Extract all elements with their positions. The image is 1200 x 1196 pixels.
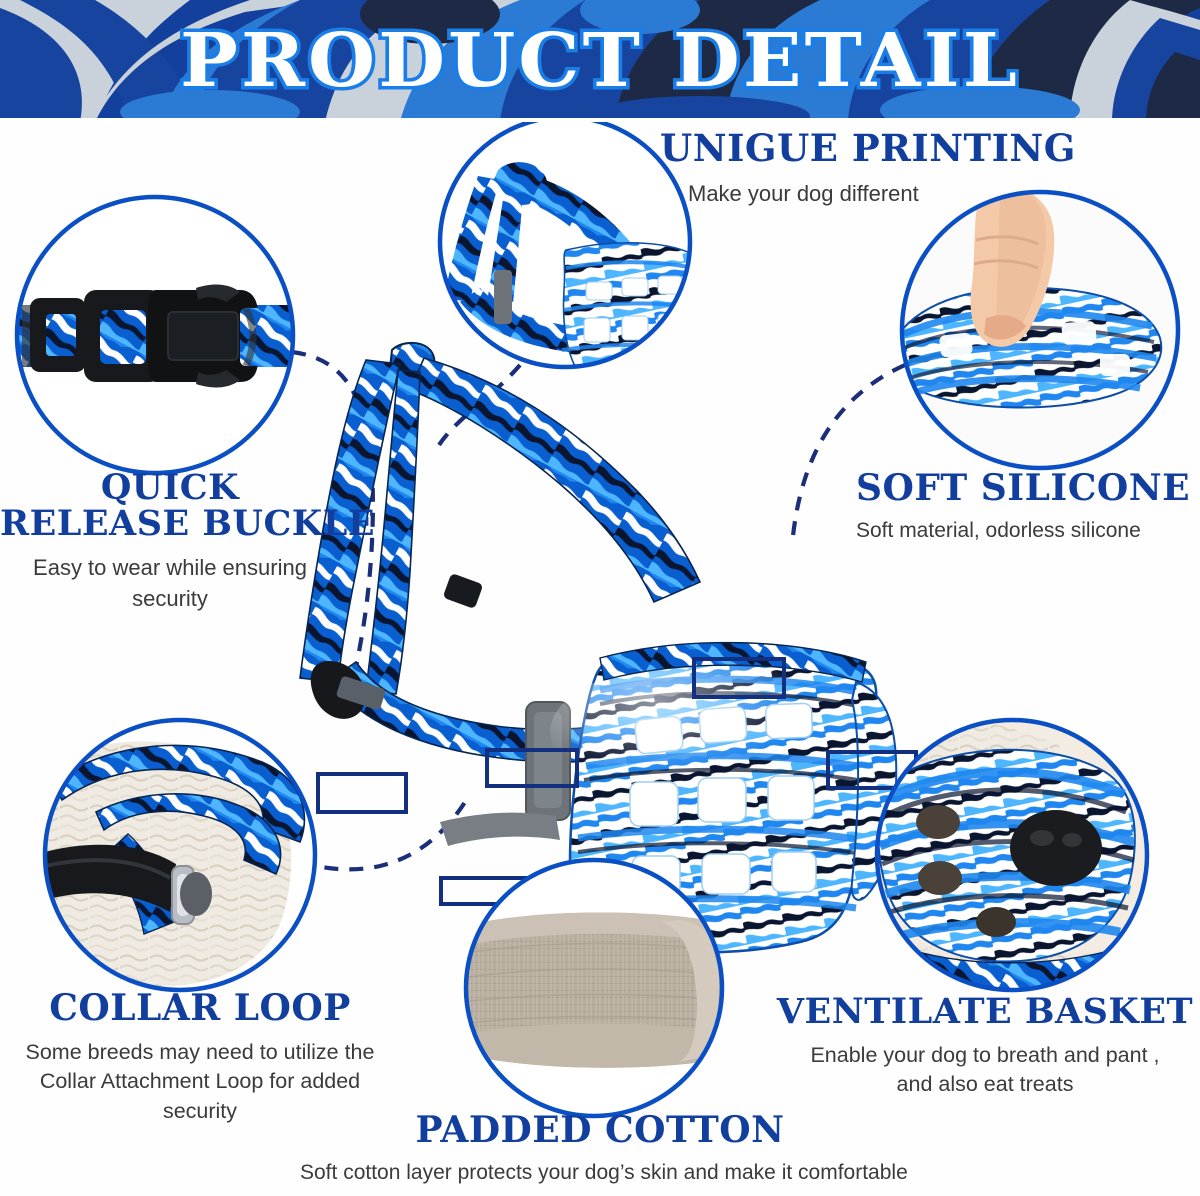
soft-silicone-title: SOFT SILICONE bbox=[856, 470, 1200, 507]
ventilate-basket-subtitle: Enable your dog to breath and pant , and… bbox=[770, 1041, 1200, 1100]
quick-release-buckle-title-line2: RELEASE BUCKLE bbox=[0, 506, 340, 542]
photo-circle-ventilate-basket bbox=[876, 718, 1150, 994]
padded-cotton-subtitle: Soft cotton layer protects your dog’s sk… bbox=[300, 1159, 900, 1188]
photo-circle-soft-silicone bbox=[896, 183, 1180, 472]
label-unique-printing: UNIGUE PRINTING Make your dog different bbox=[660, 130, 1080, 209]
label-soft-silicone: SOFT SILICONE Soft material, odorless si… bbox=[856, 470, 1200, 546]
label-collar-loop: COLLAR LOOP Some breeds may need to util… bbox=[0, 990, 400, 1127]
quick-release-buckle-title-line1: QUICK bbox=[0, 470, 340, 506]
quick-release-buckle-subtitle: Easy to wear while ensuring security bbox=[0, 553, 340, 614]
label-padded-cotton: PADDED COTTON Soft cotton layer protects… bbox=[300, 1112, 900, 1188]
photo-circle-quick-release-buckle bbox=[8, 197, 298, 477]
highlight-box-buckle bbox=[318, 774, 406, 812]
product-detail-canvas: UNIGUE PRINTING Make your dog different … bbox=[0, 122, 1200, 1196]
label-ventilate-basket: VENTILATE BASKET Enable your dog to brea… bbox=[770, 994, 1200, 1100]
ventilate-basket-title: VENTILATE BASKET bbox=[770, 994, 1200, 1030]
header-banner: PRODUCT DETAIL bbox=[0, 0, 1200, 122]
soft-silicone-subtitle: Soft material, odorless silicone bbox=[856, 517, 1200, 546]
padded-cotton-title: PADDED COTTON bbox=[300, 1112, 900, 1149]
collar-loop-title: COLLAR LOOP bbox=[0, 990, 400, 1027]
photo-circle-collar-loop bbox=[45, 720, 317, 992]
label-quick-release-buckle: QUICK RELEASE BUCKLE Easy to wear while … bbox=[0, 470, 340, 614]
banner-bottom-edge bbox=[0, 118, 1200, 122]
page-title: PRODUCT DETAIL bbox=[0, 0, 1200, 122]
unique-printing-subtitle: Make your dog different bbox=[688, 179, 1080, 209]
unique-printing-title: UNIGUE PRINTING bbox=[660, 130, 1080, 168]
